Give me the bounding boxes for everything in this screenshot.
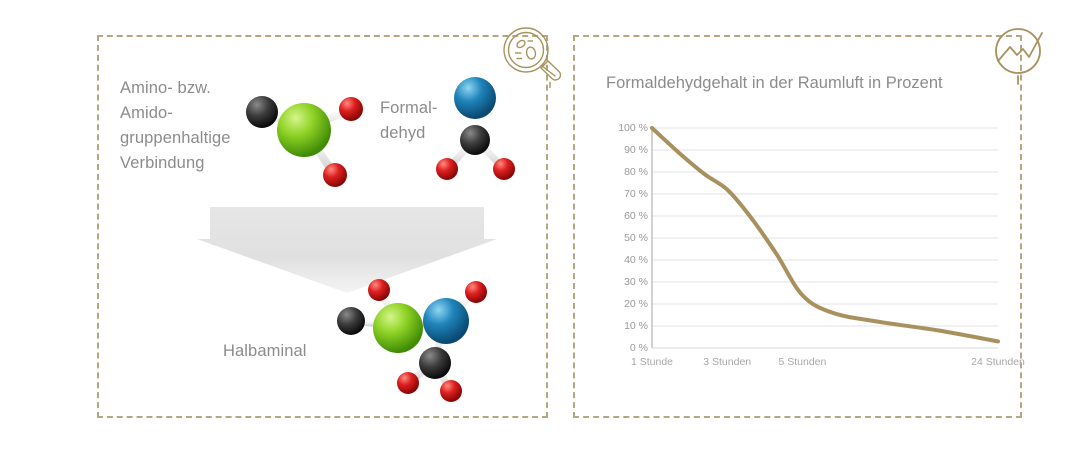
chart-y-tick-label: 100 % bbox=[602, 122, 648, 134]
formaldehyde-molecule bbox=[433, 68, 523, 188]
chart-gridlines bbox=[652, 128, 998, 348]
halbaminal-molecule bbox=[322, 266, 504, 402]
chart-y-tick-label: 90 % bbox=[602, 144, 648, 156]
chart-plot-area: 100 %90 %80 %70 %60 %50 %40 %30 %20 %10 … bbox=[600, 120, 1000, 380]
chart-y-tick-label: 0 % bbox=[602, 342, 648, 354]
formaldehyde-decay-chart: Formaldehydgehalt in der Raumluft in Pro… bbox=[600, 70, 1000, 380]
chart-x-tick-label: 3 Stunden bbox=[703, 356, 751, 368]
chart-title: Formaldehydgehalt in der Raumluft in Pro… bbox=[606, 74, 943, 93]
chart-svg bbox=[600, 120, 1000, 380]
infographic-stage: Amino- bzw. Amido- gruppenhaltige Verbin… bbox=[0, 0, 1080, 462]
chart-series-line bbox=[652, 128, 998, 341]
chart-x-tick-label: 24 Stunden bbox=[971, 356, 1025, 368]
chart-y-tick-label: 40 % bbox=[602, 254, 648, 266]
chart-x-tick-label: 1 Stunde bbox=[631, 356, 673, 368]
chart-x-tick-label: 5 Stunden bbox=[778, 356, 826, 368]
chart-y-tick-label: 60 % bbox=[602, 210, 648, 222]
chart-y-tick-label: 10 % bbox=[602, 320, 648, 332]
chart-y-tick-label: 30 % bbox=[602, 276, 648, 288]
chart-y-tick-label: 20 % bbox=[602, 298, 648, 310]
amino-compound-molecule bbox=[238, 78, 370, 190]
chart-y-tick-label: 50 % bbox=[602, 232, 648, 244]
chart-y-tick-label: 80 % bbox=[602, 166, 648, 178]
chart-y-tick-label: 70 % bbox=[602, 188, 648, 200]
